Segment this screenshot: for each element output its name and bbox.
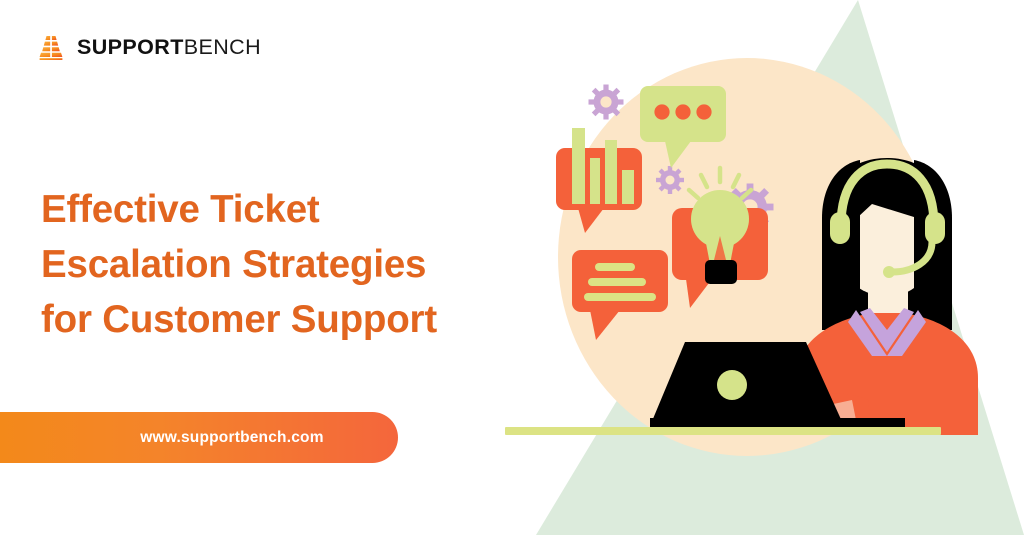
text-lines-speech-bubble — [572, 250, 668, 340]
heading-line-3: for Customer Support — [41, 292, 541, 347]
gear-tiny-center — [656, 166, 684, 194]
customer-support-agent-illustration — [500, 0, 1024, 535]
brand-logo-text: SUPPORTBENCH — [77, 37, 261, 59]
bar-chart-speech-bubble — [556, 128, 642, 233]
website-url-label: www.supportbench.com — [74, 429, 323, 447]
hero-banner: SUPPORTBENCH Effective Ticket Escalation… — [0, 0, 1024, 535]
gear-small-top-left — [589, 85, 624, 120]
brand-name-light: BENCH — [184, 35, 261, 59]
brand-logo[interactable]: SUPPORTBENCH — [36, 34, 261, 62]
chat-bubble-with-dots — [640, 86, 726, 168]
heading-line-2: Escalation Strategies — [41, 237, 541, 292]
laptop-logo-dot — [717, 370, 747, 400]
supportbench-bench-mark-icon — [36, 34, 66, 62]
heading-line-1: Effective Ticket — [41, 182, 541, 237]
desk-line — [505, 427, 941, 435]
lightbulb-idea-bubble — [672, 168, 768, 308]
page-title: Effective Ticket Escalation Strategies f… — [41, 182, 541, 347]
brand-name-bold: SUPPORT — [77, 35, 184, 59]
website-url-pill[interactable]: www.supportbench.com — [0, 412, 398, 463]
